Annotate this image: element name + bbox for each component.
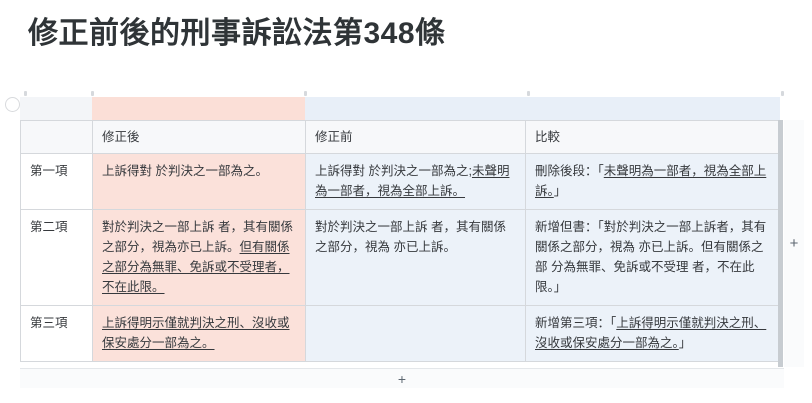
add-row-button[interactable]: +	[20, 368, 784, 388]
column-band-before[interactable]	[305, 97, 525, 120]
table-row: 第一項 上訴得對 於判決之一部為之。 上訴得對 於判決之一部為之;未聲明為一部者…	[21, 154, 781, 210]
cell-after[interactable]: 上訴得明示僅就判決之刑、沒收或保安處分一部為之。	[93, 306, 306, 362]
cell-text-tail: 」	[679, 336, 692, 350]
cell-text-plain: 刪除後段：「	[535, 164, 604, 178]
cell-text-underlined: 上訴得明示僅就判決之刑、沒收或保安處分一部為之。	[102, 316, 290, 350]
cell-index[interactable]: 第二項	[21, 210, 93, 306]
comparison-table: 修正後 修正前 比較 第一項 上訴得對 於判決之一部為之。 上訴得對 於判決之一…	[20, 120, 781, 362]
table-row: 第三項 上訴得明示僅就判決之刑、沒收或保安處分一部為之。 新增第三項：「上訴得明…	[21, 306, 781, 362]
table-select-all-handle[interactable]	[5, 97, 20, 112]
cell-text-plain: 新增但書：「對於判決之一部上訴者，其有關係之部分，視為 亦已上訴。但有關係之部 …	[535, 220, 766, 294]
cell-before[interactable]: 對於判決之一部上訴 者，其有關係之部分，視為 亦已上訴。	[306, 210, 526, 306]
column-band-compare[interactable]	[525, 97, 780, 120]
cell-compare[interactable]: 新增第三項：「上訴得明示僅就判決之刑、沒收或保安處分一部為之。」	[526, 306, 781, 362]
page-title: 修正前後的刑事訴訟法第348條	[28, 14, 446, 54]
cell-index[interactable]: 第三項	[21, 306, 93, 362]
table-header-row: 修正後 修正前 比較	[21, 121, 781, 154]
comparison-table-wrapper: 修正後 修正前 比較 第一項 上訴得對 於判決之一部為之。 上訴得對 於判決之一…	[20, 120, 780, 362]
column-resize-dot[interactable]	[527, 91, 530, 96]
cell-before[interactable]: 上訴得對 於判決之一部為之;未聲明為一部者，視為全部上訴。	[306, 154, 526, 210]
cell-before[interactable]	[306, 306, 526, 362]
cell-after[interactable]: 上訴得對 於判決之一部為之。	[93, 154, 306, 210]
header-cell-before[interactable]: 修正前	[306, 121, 526, 154]
column-resize-grip[interactable]	[778, 120, 783, 367]
header-cell-after[interactable]: 修正後	[93, 121, 306, 154]
column-resize-dot[interactable]	[24, 91, 27, 96]
add-column-button[interactable]: +	[784, 120, 804, 367]
cell-index[interactable]: 第一項	[21, 154, 93, 210]
column-band-after[interactable]	[92, 97, 305, 120]
header-cell-index[interactable]	[21, 121, 93, 154]
cell-text-plain: 對於判決之一部上訴 者，其有關係之部分，視為 亦已上訴。	[315, 220, 506, 254]
cell-after[interactable]: 對於判決之一部上訴 者，其有關係之部分，視為亦已上訴。但有關係之部分為無罪、免訴…	[93, 210, 306, 306]
column-resize-dot[interactable]	[91, 91, 94, 96]
cell-text-plain: 上訴得對 於判決之一部為之。	[102, 164, 268, 178]
cell-text-plain: 新增第三項：「	[535, 316, 616, 330]
header-cell-compare[interactable]: 比較	[526, 121, 781, 154]
cell-text-plain: 上訴得對 於判決之一部為之;	[315, 164, 472, 178]
column-resize-dot[interactable]	[304, 91, 307, 96]
cell-compare[interactable]: 刪除後段：「未聲明為一部者，視為全部上訴。」	[526, 154, 781, 210]
column-band-index[interactable]	[20, 97, 92, 120]
cell-compare[interactable]: 新增但書：「對於判決之一部上訴者，其有關係之部分，視為 亦已上訴。但有關係之部 …	[526, 210, 781, 306]
table-row: 第二項 對於判決之一部上訴 者，其有關係之部分，視為亦已上訴。但有關係之部分為無…	[21, 210, 781, 306]
document-page: 修正前後的刑事訴訟法第348條 修正後 修正前 比較 第一項 上訴	[0, 0, 812, 403]
column-resize-dot[interactable]	[781, 91, 784, 96]
cell-text-tail: 」	[554, 184, 567, 198]
